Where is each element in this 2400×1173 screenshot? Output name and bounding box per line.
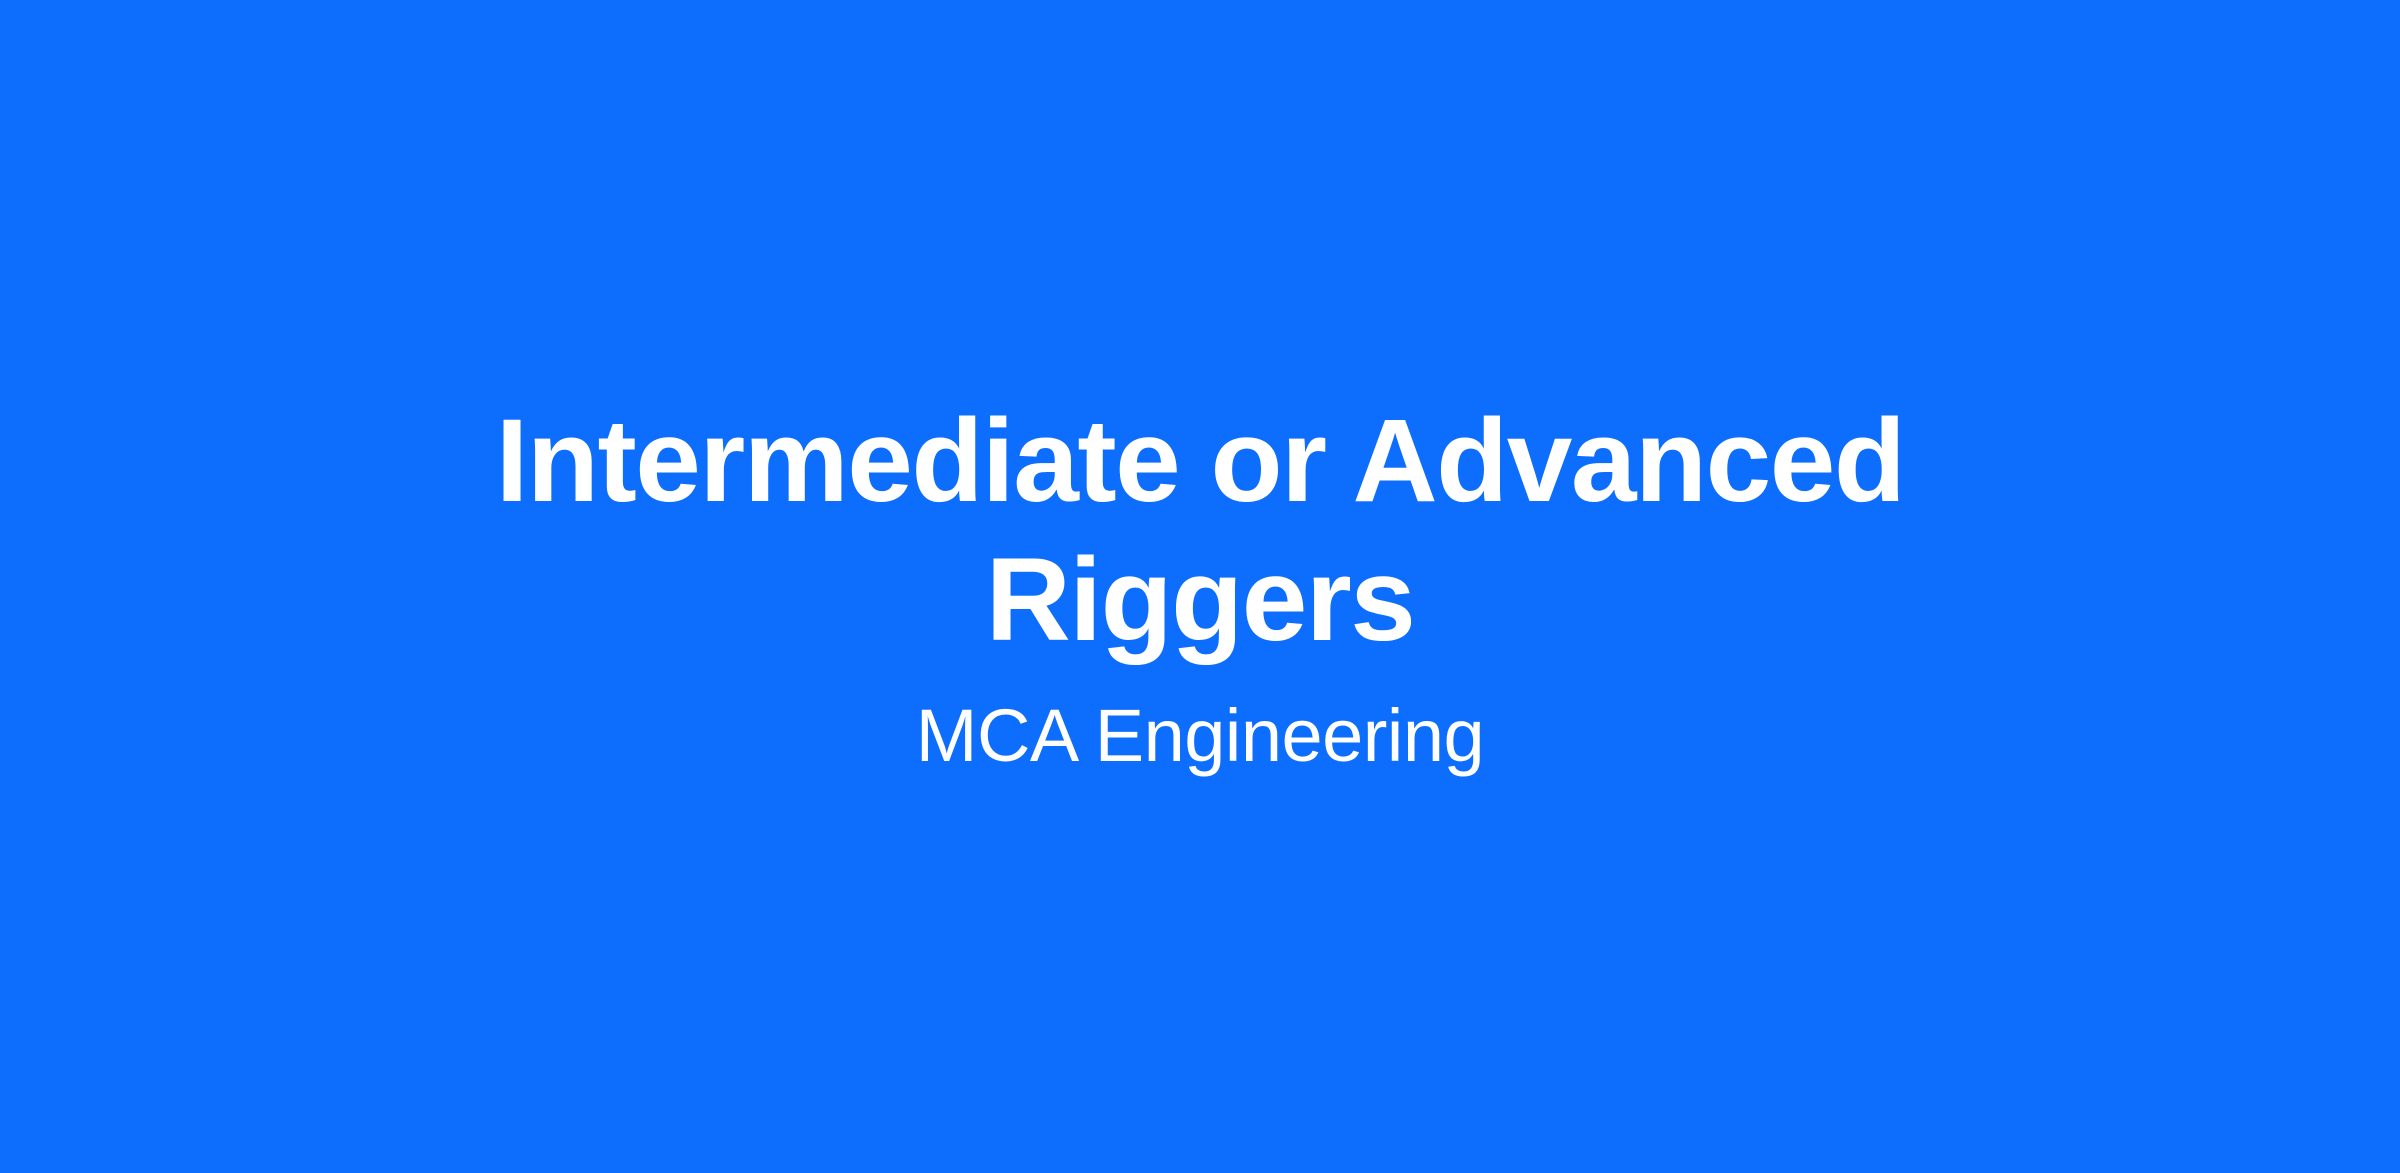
- slide-subtitle: MCA Engineering: [916, 692, 1484, 781]
- slide-title: Intermediate or Advanced Riggers: [480, 392, 1920, 670]
- title-block: Intermediate or Advanced Riggers MCA Eng…: [480, 392, 1920, 781]
- title-slide: Intermediate or Advanced Riggers MCA Eng…: [0, 0, 2400, 1173]
